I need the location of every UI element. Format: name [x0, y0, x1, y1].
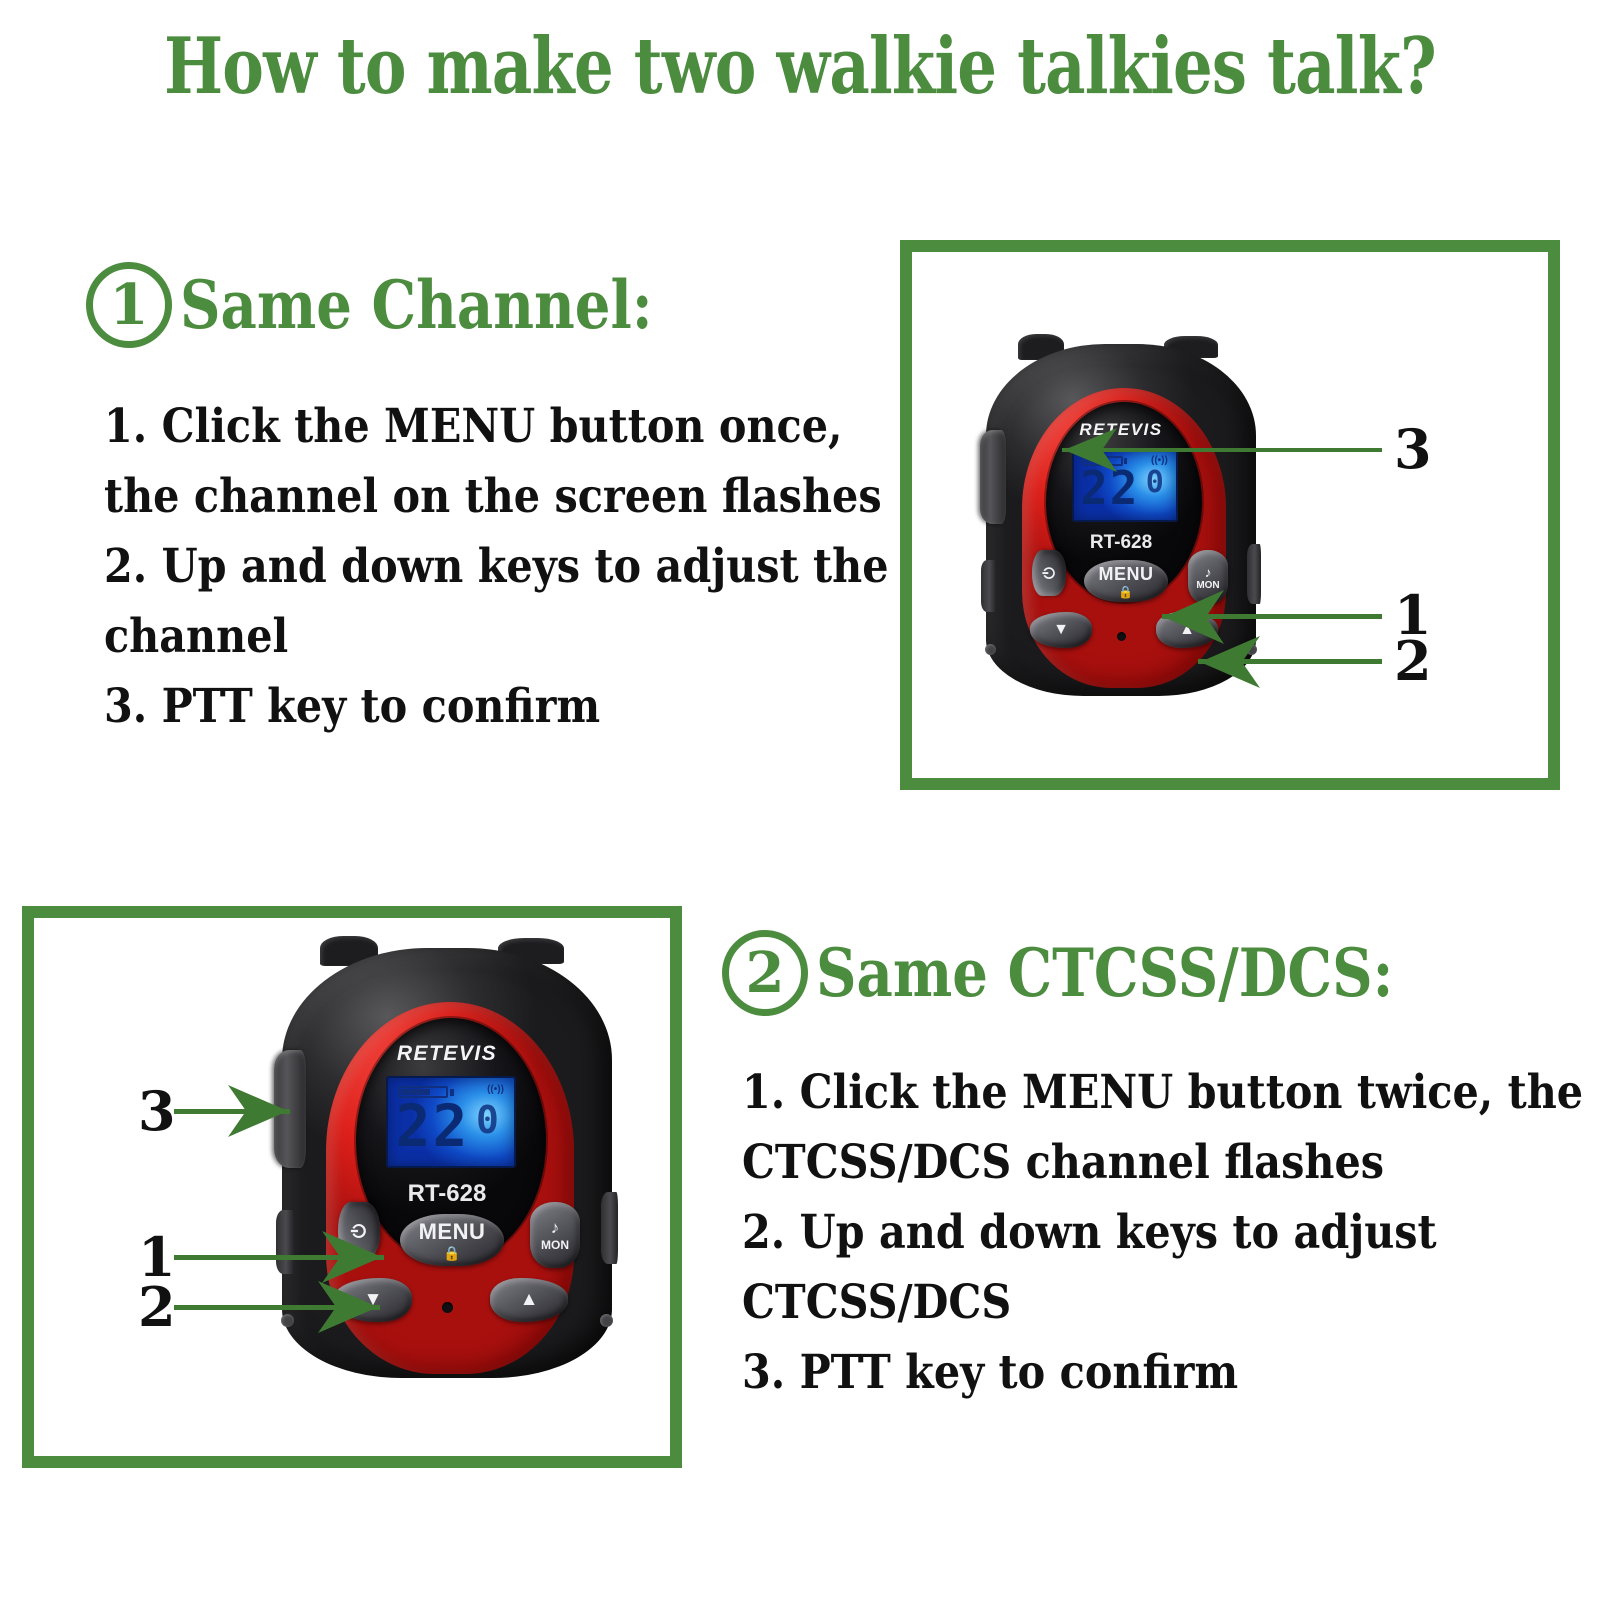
callout-arrows-top — [912, 252, 1552, 782]
step-line: channel — [104, 602, 889, 672]
callout-label-2: 2 — [1394, 634, 1432, 688]
section-1-number-badge: 1 — [86, 262, 172, 348]
step-line: the channel on the screen flashes — [104, 462, 889, 532]
callout-arrow-1 — [174, 1231, 384, 1283]
callout-arrow-3 — [1062, 428, 1382, 472]
page-title: How to make two walkie talkies talk? — [160, 24, 1440, 110]
callout-arrow-3 — [174, 1085, 290, 1137]
product-photo-frame-top: RETEVIS ((•)) 22 0 RT-628 ⏻ MENU 🔒 ♪ MON… — [900, 240, 1560, 790]
step-line: 2. Up and down keys to adjust — [742, 1198, 1583, 1268]
section-1-heading: 1 Same Channel: — [86, 262, 736, 348]
callout-label-3: 3 — [138, 1084, 176, 1138]
callout-arrow-2 — [174, 1281, 380, 1333]
product-photo-frame-bottom: RETEVIS ((•)) 22 0 RT-628 ⏻ MENU 🔒 ♪ MON… — [22, 906, 682, 1468]
section-2-number-badge: 2 — [722, 930, 808, 1016]
section-2-heading: 2 Same CTCSS/DCS: — [722, 930, 1495, 1016]
infographic-page: How to make two walkie talkies talk? 1 S… — [0, 0, 1600, 1600]
step-line: CTCSS/DCS channel flashes — [742, 1128, 1583, 1198]
callout-label-3: 3 — [1394, 422, 1432, 476]
step-line: 3. PTT key to confirm — [104, 672, 889, 742]
step-line: 1. Click the MENU button once, — [104, 392, 889, 462]
callout-arrows-bottom — [34, 918, 674, 1458]
section-2-steps: 1. Click the MENU button twice, the CTCS… — [742, 1058, 1600, 1408]
section-1-steps: 1. Click the MENU button once, the chann… — [104, 392, 996, 742]
step-line: 2. Up and down keys to adjust the — [104, 532, 889, 602]
section-1-title: Same Channel: — [180, 270, 653, 340]
step-line: 3. PTT key to confirm — [742, 1338, 1583, 1408]
section-2-title: Same CTCSS/DCS: — [816, 938, 1393, 1008]
step-line: CTCSS/DCS — [742, 1268, 1583, 1338]
callout-arrow-2 — [1198, 636, 1382, 688]
callout-label-2: 2 — [138, 1280, 176, 1334]
callout-arrow-1 — [1162, 590, 1382, 644]
step-line: 1. Click the MENU button twice, the — [742, 1058, 1583, 1128]
